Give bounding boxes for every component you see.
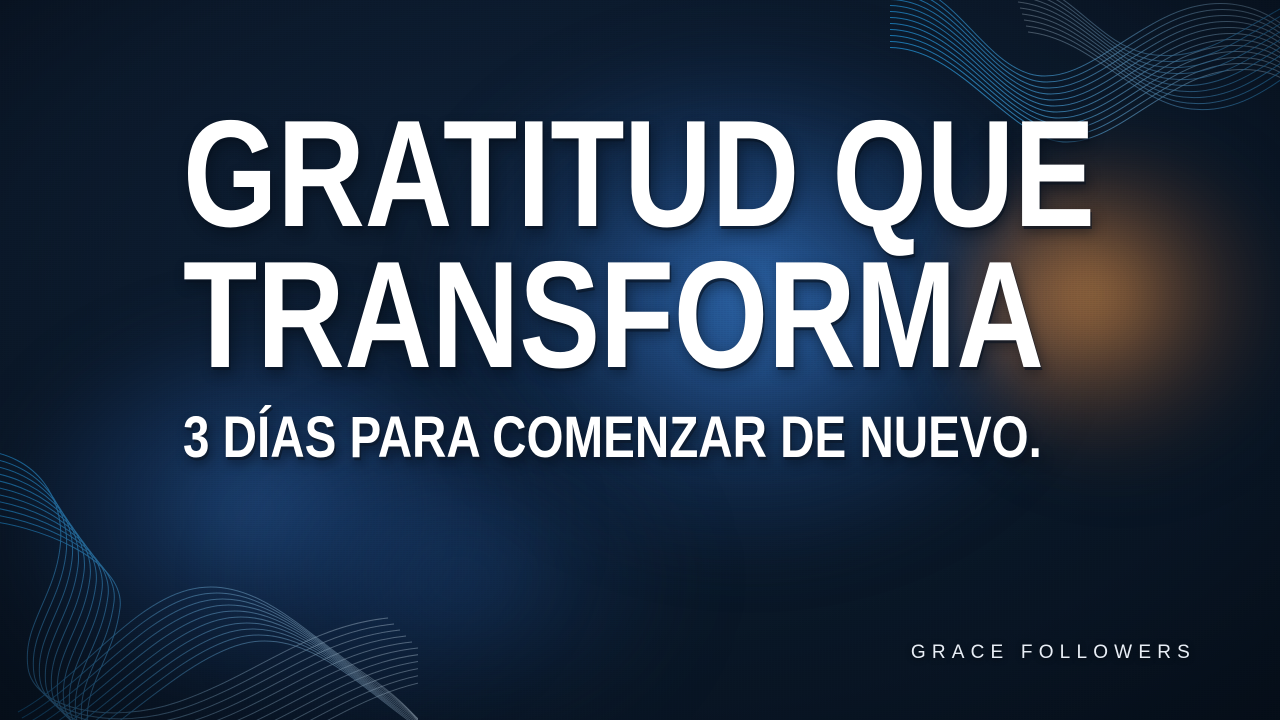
subheadline: 3 DÍAS PARA COMENZAR DE NUEVO. (183, 409, 970, 467)
copy-block: GRATITUD QUE TRANSFORMA 3 DÍAS PARA COME… (183, 104, 1143, 467)
headline-line-2: TRANSFORMA (183, 245, 951, 386)
promo-graphic-canvas: GRATITUD QUE TRANSFORMA 3 DÍAS PARA COME… (0, 0, 1280, 720)
brand-wordmark: GRACE FOLLOWERS (911, 642, 1196, 664)
headline: GRATITUD QUE TRANSFORMA (183, 104, 951, 387)
